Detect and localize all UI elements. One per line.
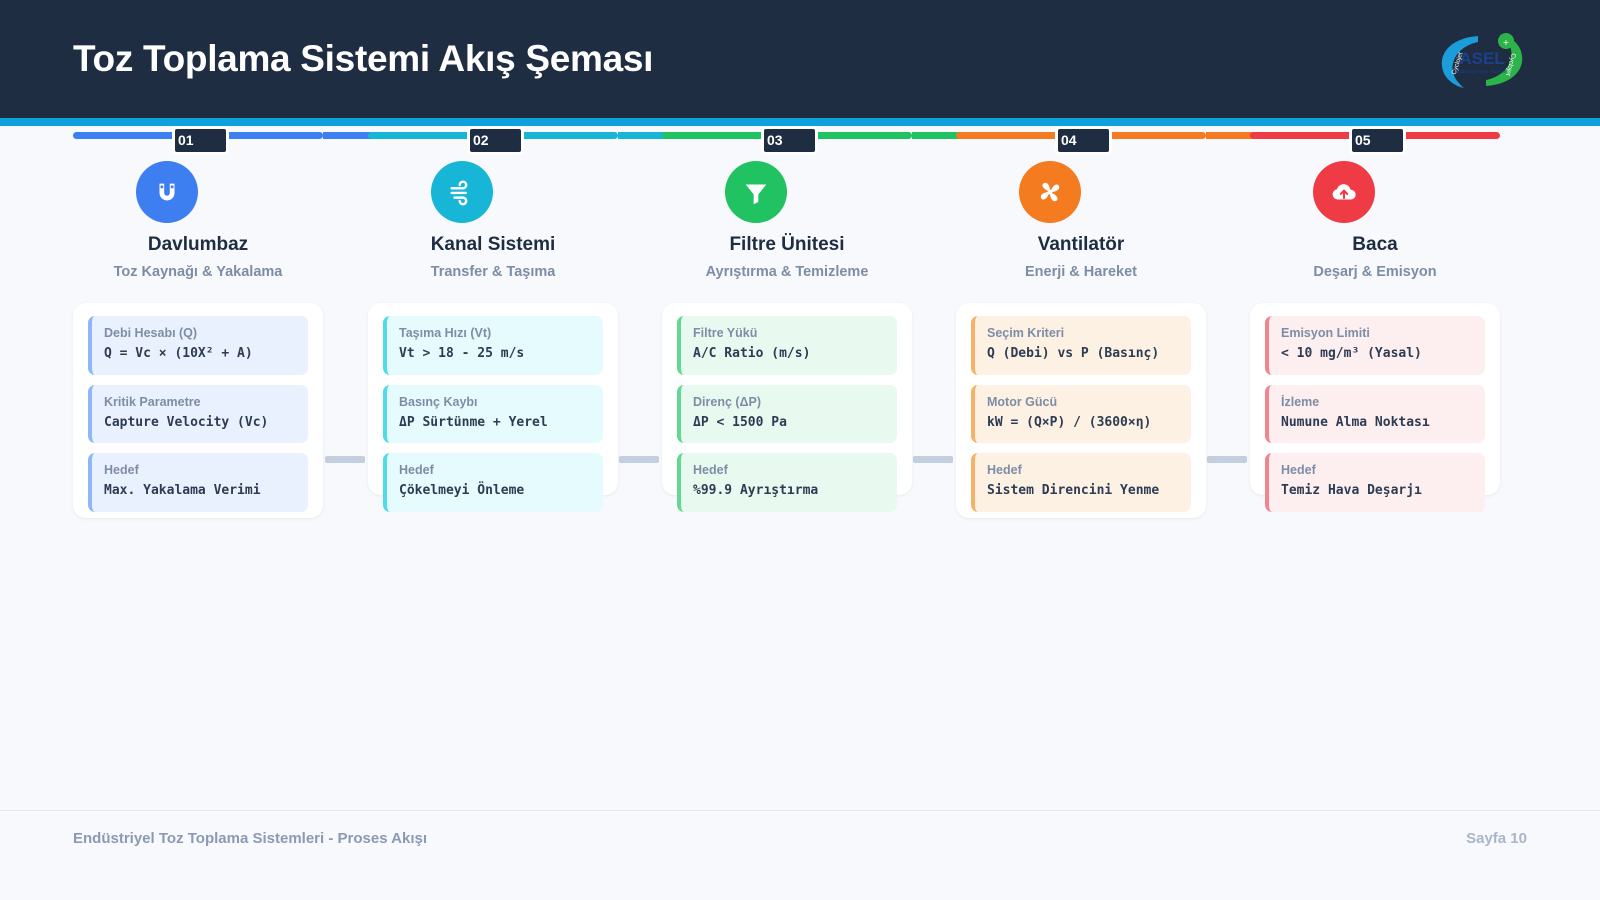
page-title: Toz Toplama Sistemi Akış Şeması	[73, 38, 653, 80]
list-item[interactable]: Filtre Yükü A/C Ratio (m/s)	[677, 316, 897, 375]
svg-text:+: +	[1503, 38, 1510, 47]
item-label: Motor Gücü	[987, 395, 1179, 409]
fan-icon	[1019, 161, 1081, 223]
list-item[interactable]: Hedef %99.9 Ayrıştırma	[677, 453, 897, 512]
stage-rail-wrap: 03	[662, 126, 912, 160]
svg-text:Endüstriyel Hava Filtreleme: Endüstriyel Hava Filtreleme	[1455, 69, 1509, 74]
stage-title: Davlumbaz	[73, 234, 323, 256]
list-item[interactable]: Kritik Parametre Capture Velocity (Vc)	[88, 385, 308, 444]
item-value: %99.9 Ayrıştırma	[693, 482, 885, 500]
item-value: A/C Ratio (m/s)	[693, 345, 885, 363]
list-item[interactable]: Hedef Max. Yakalama Verimi	[88, 453, 308, 512]
item-value: Max. Yakalama Verimi	[104, 482, 296, 500]
list-item[interactable]: Taşıma Hızı (Vt) Vt > 18 - 25 m/s	[383, 316, 603, 375]
list-item[interactable]: Seçim Kriteri Q (Debi) vs P (Basınç)	[971, 316, 1191, 375]
stage-number-badge: 04	[1055, 126, 1112, 155]
item-label: Filtre Yükü	[693, 326, 885, 340]
stage-connector-2-3	[619, 456, 659, 463]
item-value: Numune Alma Noktası	[1281, 414, 1473, 432]
stage-rail-wrap: 01	[73, 126, 323, 160]
stage-connector-1-2	[325, 456, 365, 463]
item-value: Q = Vc × (10X² + A)	[104, 345, 296, 363]
item-label: Basınç Kaybı	[399, 395, 591, 409]
item-value: ΔP < 1500 Pa	[693, 414, 885, 432]
funnel-icon	[725, 161, 787, 223]
list-item[interactable]: Debi Hesabı (Q) Q = Vc × (10X² + A)	[88, 316, 308, 375]
stage-items: Taşıma Hızı (Vt) Vt > 18 - 25 m/s Basınç…	[368, 303, 618, 522]
list-item[interactable]: Hedef Temiz Hava Deşarjı	[1265, 453, 1485, 512]
page-number: Sayfa 10	[1466, 830, 1527, 847]
stage-subtitle: Ayrıştırma & Temizleme	[662, 264, 912, 280]
footer-divider	[0, 810, 1600, 811]
item-label: Taşıma Hızı (Vt)	[399, 326, 591, 340]
stage-title: Filtre Ünitesi	[662, 234, 912, 256]
list-item[interactable]: Hedef Çökelmeyi Önleme	[383, 453, 603, 512]
stage-subtitle: Transfer & Taşıma	[368, 264, 618, 280]
item-label: Debi Hesabı (Q)	[104, 326, 296, 340]
stage-number-badge: 05	[1349, 126, 1406, 155]
flow-board: 01 Davlumbaz Toz Kaynağı & Yakalama Debi…	[0, 126, 1600, 806]
svg-text:ASEL: ASEL	[1459, 49, 1504, 68]
stage-connector-4-5	[1207, 456, 1247, 463]
wind-icon	[431, 161, 493, 223]
item-value: < 10 mg/m³ (Yasal)	[1281, 345, 1473, 363]
stage-column-kanal-sistemi[interactable]: 02 Kanal Sistemi Transfer & Taşıma Taşım…	[368, 126, 618, 160]
item-label: Hedef	[104, 463, 296, 477]
item-value: Çökelmeyi Önleme	[399, 482, 591, 500]
stage-subtitle: Toz Kaynağı & Yakalama	[73, 264, 323, 280]
stage-number-badge: 02	[467, 126, 524, 155]
item-value: Sistem Direncini Yenme	[987, 482, 1179, 500]
item-label: Direnç (ΔP)	[693, 395, 885, 409]
list-item[interactable]: İzleme Numune Alma Noktası	[1265, 385, 1485, 444]
item-label: Hedef	[1281, 463, 1473, 477]
stage-column-davlumbaz[interactable]: 01 Davlumbaz Toz Kaynağı & Yakalama Debi…	[73, 126, 323, 160]
stage-number-badge: 01	[172, 126, 229, 155]
footer-caption: Endüstriyel Toz Toplama Sistemleri - Pro…	[73, 830, 427, 847]
stage-rail-wrap: 02	[368, 126, 618, 160]
stage-subtitle: Enerji & Hareket	[956, 264, 1206, 280]
item-value: Vt > 18 - 25 m/s	[399, 345, 591, 363]
list-item[interactable]: Motor Gücü kW = (Q×P) / (3600×η)	[971, 385, 1191, 444]
stage-items: Filtre Yükü A/C Ratio (m/s) Direnç (ΔP) …	[662, 303, 912, 522]
item-value: kW = (Q×P) / (3600×η)	[987, 414, 1179, 432]
list-item[interactable]: Basınç Kaybı ΔP Sürtünme + Yerel	[383, 385, 603, 444]
cloud-upload-icon	[1313, 161, 1375, 223]
stage-column-baca[interactable]: 05 Baca Deşarj & Emisyon Emisyon Limiti …	[1250, 126, 1500, 160]
item-label: Hedef	[693, 463, 885, 477]
stage-title: Baca	[1250, 234, 1500, 256]
stage-title: Vantilatör	[956, 234, 1206, 256]
list-item[interactable]: Direnç (ΔP) ΔP < 1500 Pa	[677, 385, 897, 444]
stage-number-badge: 03	[761, 126, 818, 155]
item-label: Hedef	[987, 463, 1179, 477]
stage-subtitle: Deşarj & Emisyon	[1250, 264, 1500, 280]
stage-connector-3-4	[913, 456, 953, 463]
asel-cyclojet-logo: + ASEL Endüstriyel Hava Filtreleme Cyclo…	[1432, 28, 1532, 94]
item-label: Seçim Kriteri	[987, 326, 1179, 340]
list-item[interactable]: Emisyon Limiti < 10 mg/m³ (Yasal)	[1265, 316, 1485, 375]
item-label: Emisyon Limiti	[1281, 326, 1473, 340]
magnet-icon	[136, 161, 198, 223]
item-value: ΔP Sürtünme + Yerel	[399, 414, 591, 432]
stage-items: Emisyon Limiti < 10 mg/m³ (Yasal) İzleme…	[1250, 303, 1500, 522]
item-value: Temiz Hava Deşarjı	[1281, 482, 1473, 500]
item-label: Kritik Parametre	[104, 395, 296, 409]
header-accent-bar	[0, 118, 1600, 126]
stage-items: Seçim Kriteri Q (Debi) vs P (Basınç) Mot…	[956, 303, 1206, 522]
item-value: Q (Debi) vs P (Basınç)	[987, 345, 1179, 363]
stage-rail-wrap: 05	[1250, 126, 1500, 160]
stage-rail-wrap: 04	[956, 126, 1206, 160]
stage-items: Debi Hesabı (Q) Q = Vc × (10X² + A) Krit…	[73, 303, 323, 522]
list-item[interactable]: Hedef Sistem Direncini Yenme	[971, 453, 1191, 512]
stage-column-filtre-unitesi[interactable]: 03 Filtre Ünitesi Ayrıştırma & Temizleme…	[662, 126, 912, 160]
item-label: İzleme	[1281, 395, 1473, 409]
stage-column-vantilator[interactable]: 04 Vantilatör Enerji & Hareket Seçim Kri…	[956, 126, 1206, 160]
stage-title: Kanal Sistemi	[368, 234, 618, 256]
item-value: Capture Velocity (Vc)	[104, 414, 296, 432]
item-label: Hedef	[399, 463, 591, 477]
